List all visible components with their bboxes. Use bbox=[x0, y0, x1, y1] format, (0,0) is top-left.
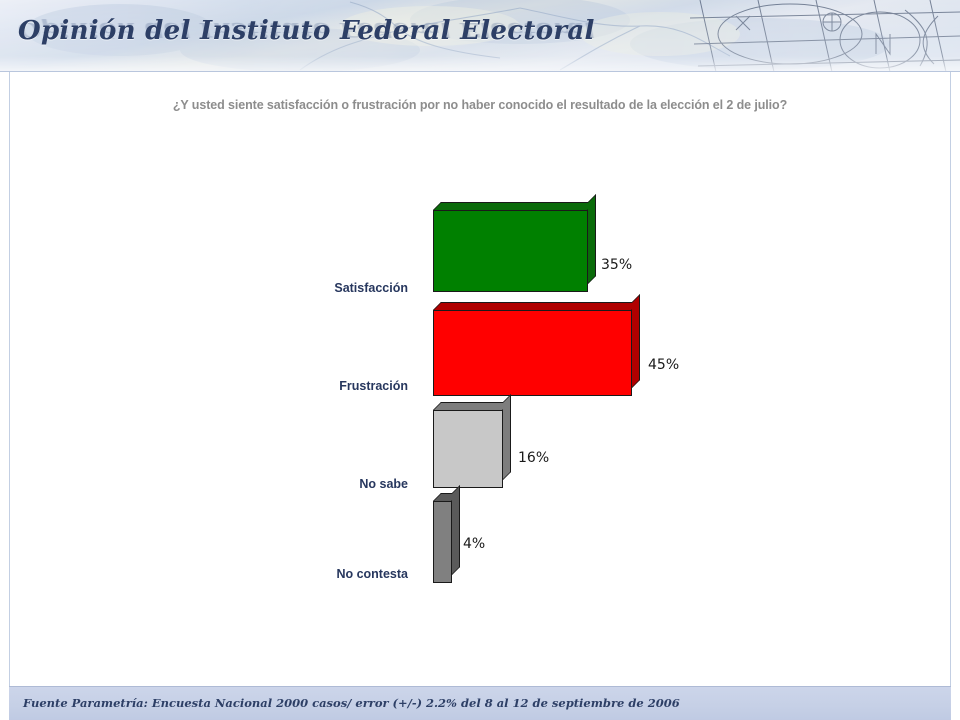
bar-category-label: Satisfacción bbox=[334, 281, 408, 295]
bar-top-face bbox=[433, 402, 511, 410]
bar-frustracion bbox=[433, 302, 632, 396]
bar-category-label: No sabe bbox=[359, 477, 408, 491]
bar-row: No contesta 4% bbox=[0, 493, 960, 583]
bar-chart: Satisfacción 35% Frustración 45% No sabe bbox=[0, 180, 960, 600]
bar-side-face bbox=[632, 294, 640, 388]
header-divider bbox=[0, 71, 960, 72]
bar-value-label: 45% bbox=[648, 357, 679, 373]
bar-top-face bbox=[433, 302, 640, 310]
page-title: Opinión del Instituto Federal Electoral bbox=[18, 16, 595, 46]
bar-front-face bbox=[433, 310, 632, 396]
bar-front-face bbox=[433, 410, 503, 488]
chart-question: ¿Y usted siente satisfacción o frustraci… bbox=[0, 98, 960, 112]
header-banner: Opinión del Instituto Federal Electoral … bbox=[0, 0, 960, 72]
bar-front-face bbox=[433, 210, 588, 292]
bar-side-face bbox=[452, 485, 460, 575]
footer-band: Fuente Parametría: Encuesta Nacional 200… bbox=[9, 686, 951, 720]
bar-row: No sabe 16% bbox=[0, 402, 960, 492]
bar-value-label: 4% bbox=[463, 536, 485, 552]
slide: Opinión del Instituto Federal Electoral … bbox=[0, 0, 960, 720]
bar-side-face bbox=[588, 194, 596, 284]
bar-row: Satisfacción 35% bbox=[0, 202, 960, 302]
bar-no-sabe bbox=[433, 402, 503, 488]
bar-row: Frustración 45% bbox=[0, 302, 960, 402]
bar-side-face bbox=[503, 394, 511, 480]
bar-category-label: No contesta bbox=[336, 567, 408, 581]
bar-value-label: 35% bbox=[601, 257, 632, 273]
bar-satisfaccion bbox=[433, 202, 588, 292]
source-note: Fuente Parametría: Encuesta Nacional 200… bbox=[23, 696, 680, 710]
bar-front-face bbox=[433, 501, 452, 583]
bar-top-face bbox=[433, 202, 596, 210]
bar-no-contesta bbox=[433, 493, 452, 583]
bar-category-label: Frustración bbox=[339, 379, 408, 393]
bar-value-label: 16% bbox=[518, 450, 549, 466]
